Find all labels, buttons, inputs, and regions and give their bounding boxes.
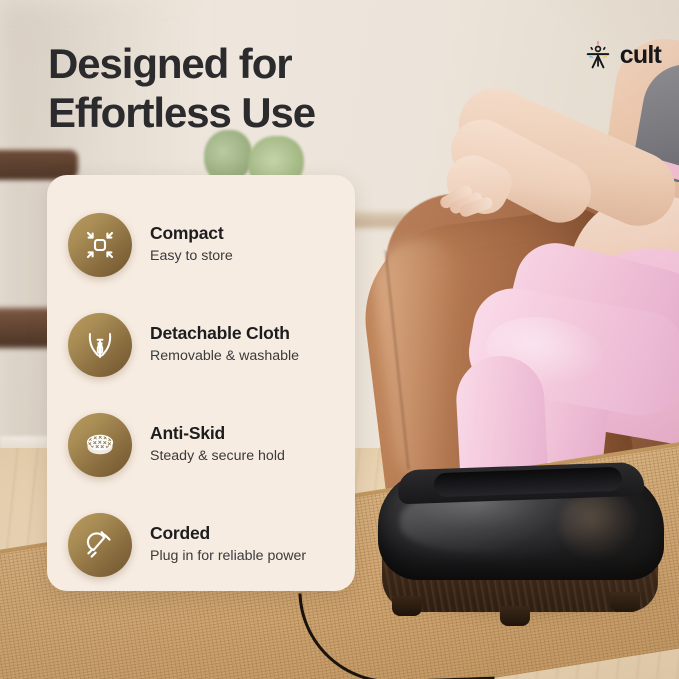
- feature-title: Detachable Cloth: [150, 323, 290, 343]
- feature-title: Anti-Skid: [150, 423, 225, 443]
- feature-subtitle: Plug in for reliable power: [150, 547, 306, 566]
- feature-item-compact[interactable]: Compact Easy to store: [47, 195, 355, 295]
- power-plug-icon: [68, 513, 132, 577]
- feature-subtitle: Steady & secure hold: [150, 447, 285, 466]
- feature-text: Compact Easy to store: [150, 223, 233, 266]
- feature-text: Anti-Skid Steady & secure hold: [150, 423, 285, 466]
- headline-line-1: Designed for: [48, 40, 378, 89]
- textured-pad-icon: [68, 413, 132, 477]
- headline-line-2: Effortless Use: [48, 89, 378, 138]
- feature-item-detachable-cloth[interactable]: Detachable Cloth Removable & washable: [47, 295, 355, 395]
- feature-text: Detachable Cloth Removable & washable: [150, 323, 299, 366]
- compress-arrows-icon: [68, 213, 132, 277]
- feature-title: Compact: [150, 223, 223, 243]
- feature-list: Compact Easy to store Detachable Cl: [47, 175, 355, 595]
- feature-subtitle: Easy to store: [150, 247, 233, 266]
- features-card: Compact Easy to store Detachable Cl: [47, 175, 355, 591]
- feature-item-anti-skid[interactable]: Anti-Skid Steady & secure hold: [47, 395, 355, 495]
- feature-item-corded[interactable]: Corded Plug in for reliable power: [47, 495, 355, 595]
- product-feature-banner: Designed for Effortless Use cult: [0, 0, 679, 679]
- zipper-icon: [68, 313, 132, 377]
- feature-text: Corded Plug in for reliable power: [150, 523, 306, 566]
- massager-foot: [500, 606, 530, 626]
- massager-gloss-right: [560, 490, 640, 560]
- massager-foot: [610, 592, 640, 612]
- cult-starburst-figure-icon: [583, 40, 613, 70]
- brand-logo[interactable]: cult: [583, 40, 661, 70]
- page-title: Designed for Effortless Use: [48, 40, 378, 137]
- brand-name: cult: [620, 43, 661, 68]
- feature-title: Corded: [150, 523, 210, 543]
- feature-subtitle: Removable & washable: [150, 347, 299, 366]
